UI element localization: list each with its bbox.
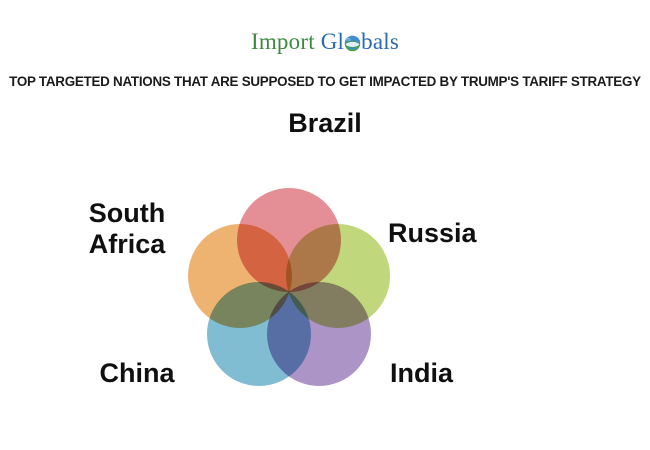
venn-circle-south-africa (188, 224, 292, 328)
logo-text-import: Import (251, 29, 315, 54)
venn-label-south-africa: SouthAfrica (62, 198, 192, 260)
brand-logo: Import Gl bals (0, 28, 650, 55)
globe-icon (344, 35, 361, 52)
logo-text-gl: Gl (321, 29, 344, 54)
venn-label-russia: Russia (388, 218, 548, 249)
venn-label-south-africa-line2: Africa (89, 229, 166, 259)
venn-label-south-africa-line1: South (89, 198, 165, 228)
venn-label-china: China (62, 358, 212, 389)
venn-label-brazil: Brazil (0, 108, 650, 139)
page-headline: TOP TARGETED NATIONS THAT ARE SUPPOSED T… (0, 74, 650, 89)
venn-diagram (198, 186, 380, 392)
logo-text-bals: bals (361, 29, 399, 54)
infographic-canvas: Import Gl bals TOP TARGETED NATIONS THAT… (0, 0, 650, 450)
venn-label-india: India (390, 358, 550, 389)
